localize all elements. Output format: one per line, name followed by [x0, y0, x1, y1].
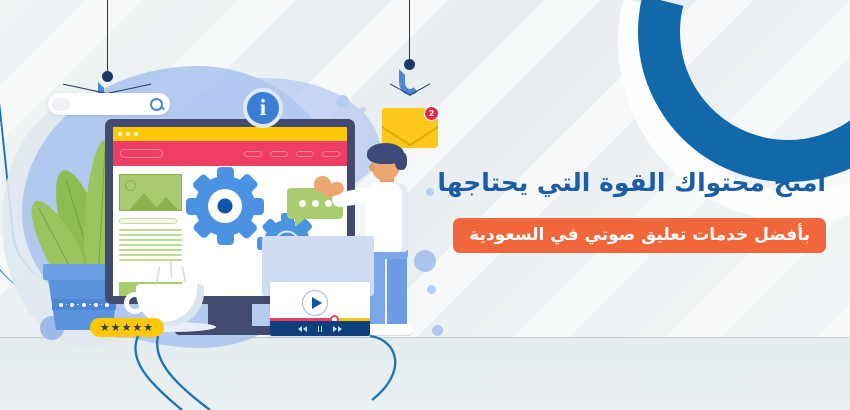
search-icon[interactable] [150, 98, 163, 111]
browser-nav-bar [113, 141, 347, 166]
decor-dot [360, 107, 366, 113]
pause-button[interactable] [318, 326, 323, 332]
video-player[interactable] [270, 282, 370, 336]
nav-item[interactable] [296, 151, 314, 157]
rating-badge: ★★★★★ [90, 318, 164, 337]
window-dot-icon [126, 132, 130, 136]
person-hair-back [395, 152, 407, 170]
page-title: امنح محتواك القوة التي يحتاجها [437, 168, 826, 197]
promo-banner: i 2 [0, 0, 850, 410]
person-ear [369, 164, 375, 171]
mountain-shape [153, 197, 179, 211]
window-dot-icon [118, 132, 122, 136]
content-heading-placeholder [119, 218, 177, 224]
decor-dot [432, 325, 443, 336]
info-icon: i [243, 88, 283, 128]
search-bar-pill [52, 98, 70, 111]
envelope-wire [409, 0, 410, 63]
nav-item[interactable] [270, 151, 288, 157]
window-dot-icon [134, 132, 138, 136]
browser-nav-items [244, 151, 340, 157]
hook-ball-icon [404, 59, 415, 70]
content-text-lines [119, 229, 182, 264]
floor-band [0, 337, 850, 410]
person-shoe-right [385, 324, 413, 335]
bubble-dot-icon [312, 200, 319, 207]
hook-ball-icon [102, 71, 113, 82]
sun-icon [125, 180, 136, 191]
decor-dot [336, 95, 349, 108]
rewind-button[interactable] [298, 326, 307, 332]
floor-line [0, 337, 850, 338]
sub-headline-banner: بأفضل خدمات تعليق صوتي في السعودية [453, 218, 826, 253]
bubble-dot-icon [325, 200, 332, 207]
search-input[interactable] [73, 97, 147, 111]
url-input[interactable] [120, 149, 163, 158]
forward-button[interactable] [333, 326, 342, 332]
envelope-flap [409, 124, 438, 146]
player-controls [270, 321, 370, 336]
browser-title-bar [113, 127, 347, 141]
image-placeholder-icon [119, 174, 182, 211]
search-bar-wire [107, 0, 108, 76]
decor-dot [414, 250, 436, 272]
envelope-notification-badge: 2 [424, 106, 439, 121]
search-bar[interactable] [48, 93, 170, 115]
decor-dot [427, 285, 436, 294]
play-button[interactable] [302, 290, 328, 316]
bubble-dot-icon [299, 200, 306, 207]
decor-dot [426, 188, 434, 196]
person-hand [314, 176, 331, 192]
play-icon [312, 297, 322, 309]
nav-item[interactable] [244, 151, 262, 157]
nav-item[interactable] [322, 151, 340, 157]
gear-large-icon [195, 176, 255, 236]
